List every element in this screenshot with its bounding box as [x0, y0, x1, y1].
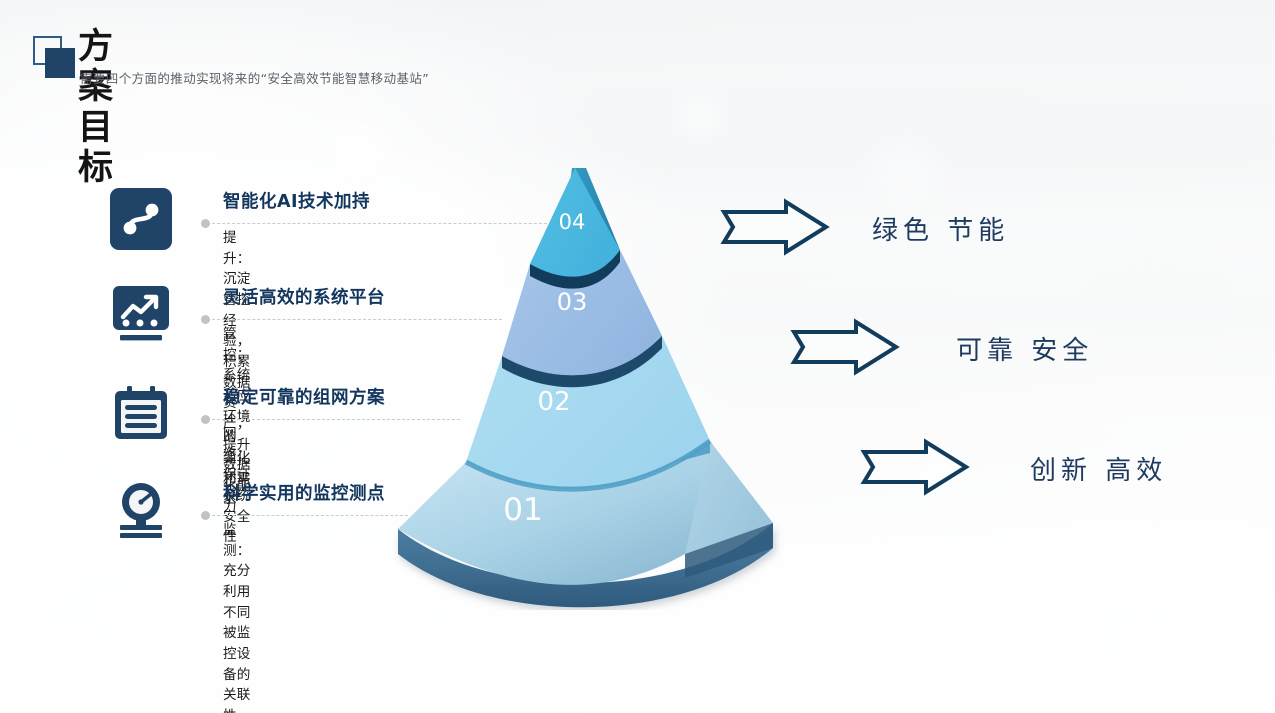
connector-dot [201, 219, 210, 228]
ai-node-curve-icon [110, 188, 172, 250]
pyramid-number-02: 02 [537, 387, 570, 417]
outcome-label: 可靠 安全 [956, 330, 1093, 367]
feature-title: 灵活高效的系统平台 [223, 284, 385, 309]
page-title: 方案目标 [78, 27, 116, 188]
outcome-label: 绿色 节能 [872, 210, 1009, 247]
pyramid-level-04: 04 [530, 168, 620, 289]
connector-line [212, 515, 408, 516]
right-arrow-outline-icon [790, 318, 900, 380]
feature-title: 稳定可靠的组网方案 [223, 384, 385, 409]
connector-dot [201, 315, 210, 324]
connector-dot [201, 511, 210, 520]
page-subtitle: 需要四个方面的推动实现将来的“安全高效节能智慧移动基站” [80, 68, 429, 87]
chart-monitor-icon [110, 284, 172, 346]
logo-square-filled [45, 48, 75, 78]
right-arrow-outline-icon [720, 198, 830, 260]
pyramid-number-03: 03 [557, 288, 588, 316]
feature-title: 科学实用的监控测点 [223, 480, 385, 505]
right-arrow-outline-icon [860, 438, 970, 500]
gauge-meter-icon [110, 480, 172, 542]
pyramid-number-04: 04 [559, 210, 586, 234]
pyramid-number-01: 01 [503, 492, 542, 528]
clipboard-lines-icon [110, 384, 172, 446]
two-overlapping-squares-icon [33, 36, 79, 78]
outcome-label: 创新 高效 [1030, 450, 1167, 487]
connector-dot [201, 415, 210, 424]
feature-title: 智能化AI技术加持 [223, 188, 370, 213]
feature-description: 监测：充分利用不同 被监控设备的关联性 [223, 520, 251, 713]
